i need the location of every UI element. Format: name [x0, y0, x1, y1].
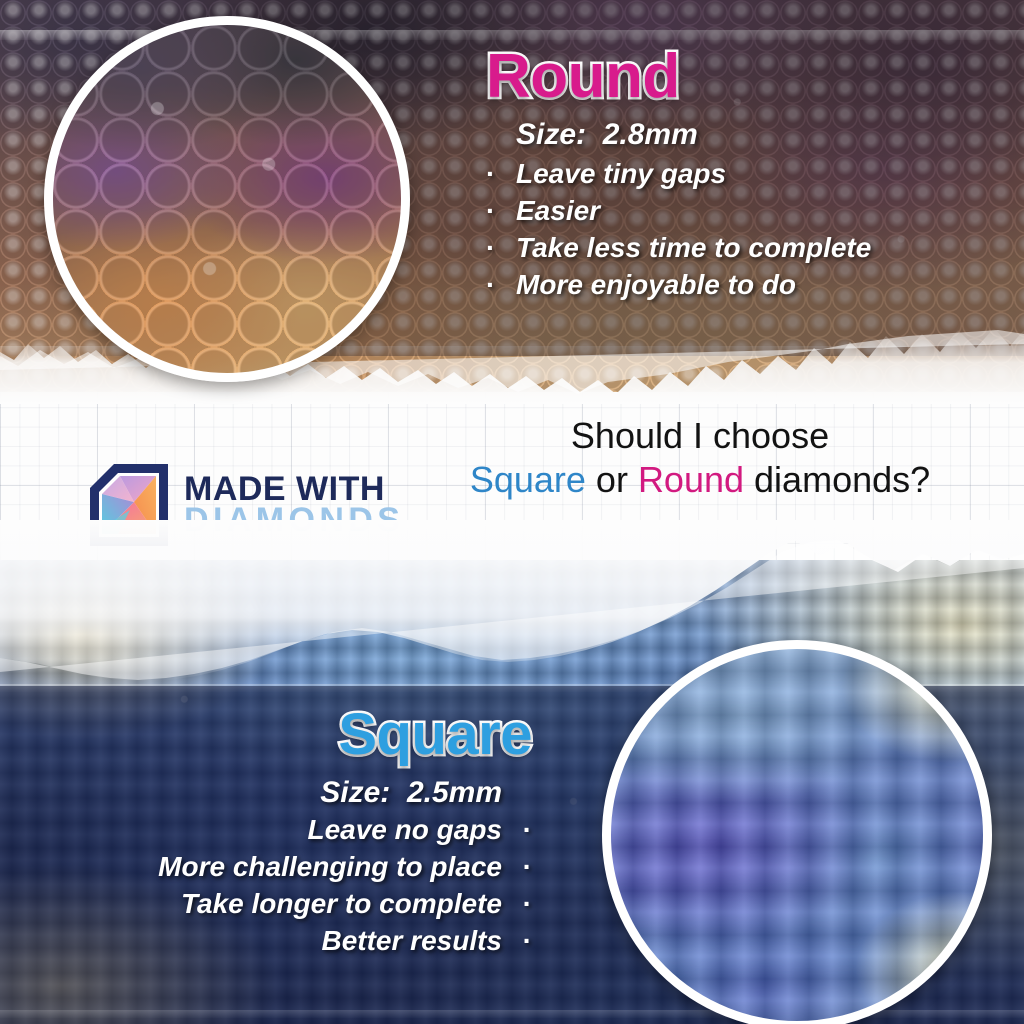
- headline-conjunction: or: [586, 459, 638, 500]
- list-item: Leave no gaps: [0, 812, 532, 849]
- list-item: Leave tiny gaps: [486, 156, 1006, 193]
- headline-round-word: Round: [638, 459, 744, 500]
- list-item: Take less time to complete: [486, 230, 1006, 267]
- brand-wordmark: MADE WITH DIAMONDS: [184, 474, 404, 537]
- infographic-canvas: Round Size: 2.8mm Leave tiny gaps Easier…: [0, 0, 1024, 1024]
- list-item: More challenging to place: [0, 849, 532, 886]
- headline-line-1: Should I choose: [400, 414, 1000, 458]
- list-item: More enjoyable to do: [486, 267, 1006, 304]
- diamond-gem-icon: [88, 462, 170, 548]
- list-item: Take longer to complete: [0, 886, 532, 923]
- page-title: Should I choose Square or Round diamonds…: [400, 414, 1000, 502]
- round-closeup-circle: [44, 16, 410, 382]
- headline-tail: diamonds?: [744, 459, 930, 500]
- brand-name-line2: DIAMONDS: [184, 505, 404, 536]
- square-size-label: Size: 2.5mm: [0, 776, 532, 810]
- square-bullet-list: Leave no gaps More challenging to place …: [0, 812, 532, 960]
- list-item: Better results: [0, 923, 532, 960]
- square-closeup-circle: [602, 640, 992, 1024]
- headline-line-2: Square or Round diamonds?: [400, 458, 1000, 502]
- round-size-label: Size: 2.8mm: [486, 118, 1006, 152]
- round-info-block: Round Size: 2.8mm Leave tiny gaps Easier…: [486, 46, 1006, 304]
- headline-square-word: Square: [470, 459, 586, 500]
- round-bullet-list: Leave tiny gaps Easier Take less time to…: [486, 156, 1006, 304]
- square-title: Square: [0, 706, 532, 764]
- square-info-block: Square Size: 2.5mm Leave no gaps More ch…: [0, 706, 532, 960]
- list-item: Easier: [486, 193, 1006, 230]
- brand-logo[interactable]: MADE WITH DIAMONDS: [88, 462, 404, 548]
- round-title: Round: [486, 46, 1006, 108]
